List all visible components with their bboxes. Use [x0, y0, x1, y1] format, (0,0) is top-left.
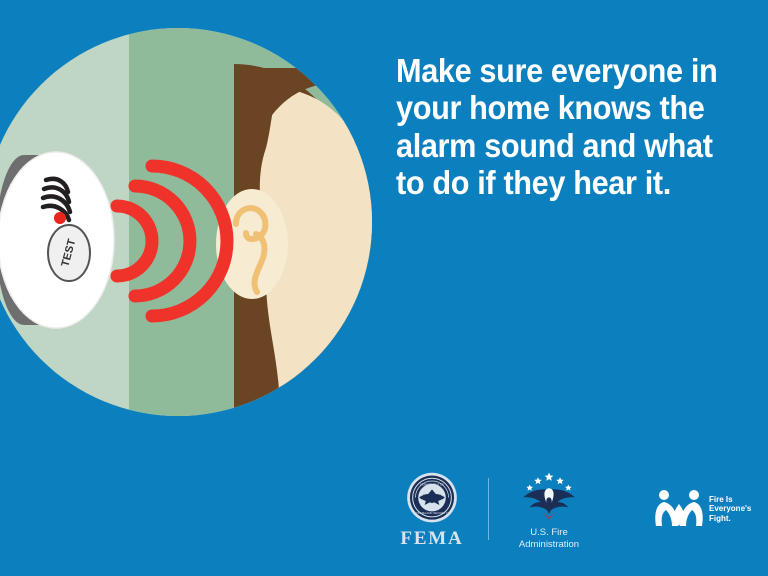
illustration-circle: TEST	[0, 28, 372, 416]
fief-figures-flame-icon	[653, 488, 705, 530]
usfa-eagle-icon	[503, 468, 595, 525]
dhs-seal-icon: DEPARTMENT OF HOMELAND SECURITY	[386, 470, 478, 525]
fief-logo-block[interactable]: Fire Is Everyone's Fight.	[653, 488, 751, 530]
smoke-alarm: TEST	[0, 152, 114, 328]
fief-wordmark: Fire Is Everyone's Fight.	[709, 495, 751, 523]
headline-text: Make sure everyone in your home knows th…	[396, 52, 727, 201]
usfa-logo-block[interactable]: U.S. Fire Administration	[503, 468, 595, 551]
person-profile	[216, 64, 372, 416]
svg-text:DEPARTMENT OF: DEPARTMENT OF	[420, 483, 444, 487]
star-group	[526, 472, 571, 490]
logo-bar: DEPARTMENT OF HOMELAND SECURITY FEMA	[386, 466, 758, 552]
fema-wordmark: FEMA	[400, 529, 463, 548]
fema-logo-block[interactable]: DEPARTMENT OF HOMELAND SECURITY FEMA	[386, 470, 478, 547]
poster-canvas: TEST Make sure everyone in your home kno…	[0, 0, 768, 576]
alarm-led	[54, 212, 66, 224]
illustration-container: TEST	[0, 28, 372, 416]
svg-text:HOMELAND SECURITY: HOMELAND SECURITY	[416, 512, 447, 516]
usfa-wordmark: U.S. Fire Administration	[519, 527, 579, 551]
logo-divider	[488, 478, 489, 540]
smoke-alarm-illustration: TEST	[0, 28, 372, 416]
